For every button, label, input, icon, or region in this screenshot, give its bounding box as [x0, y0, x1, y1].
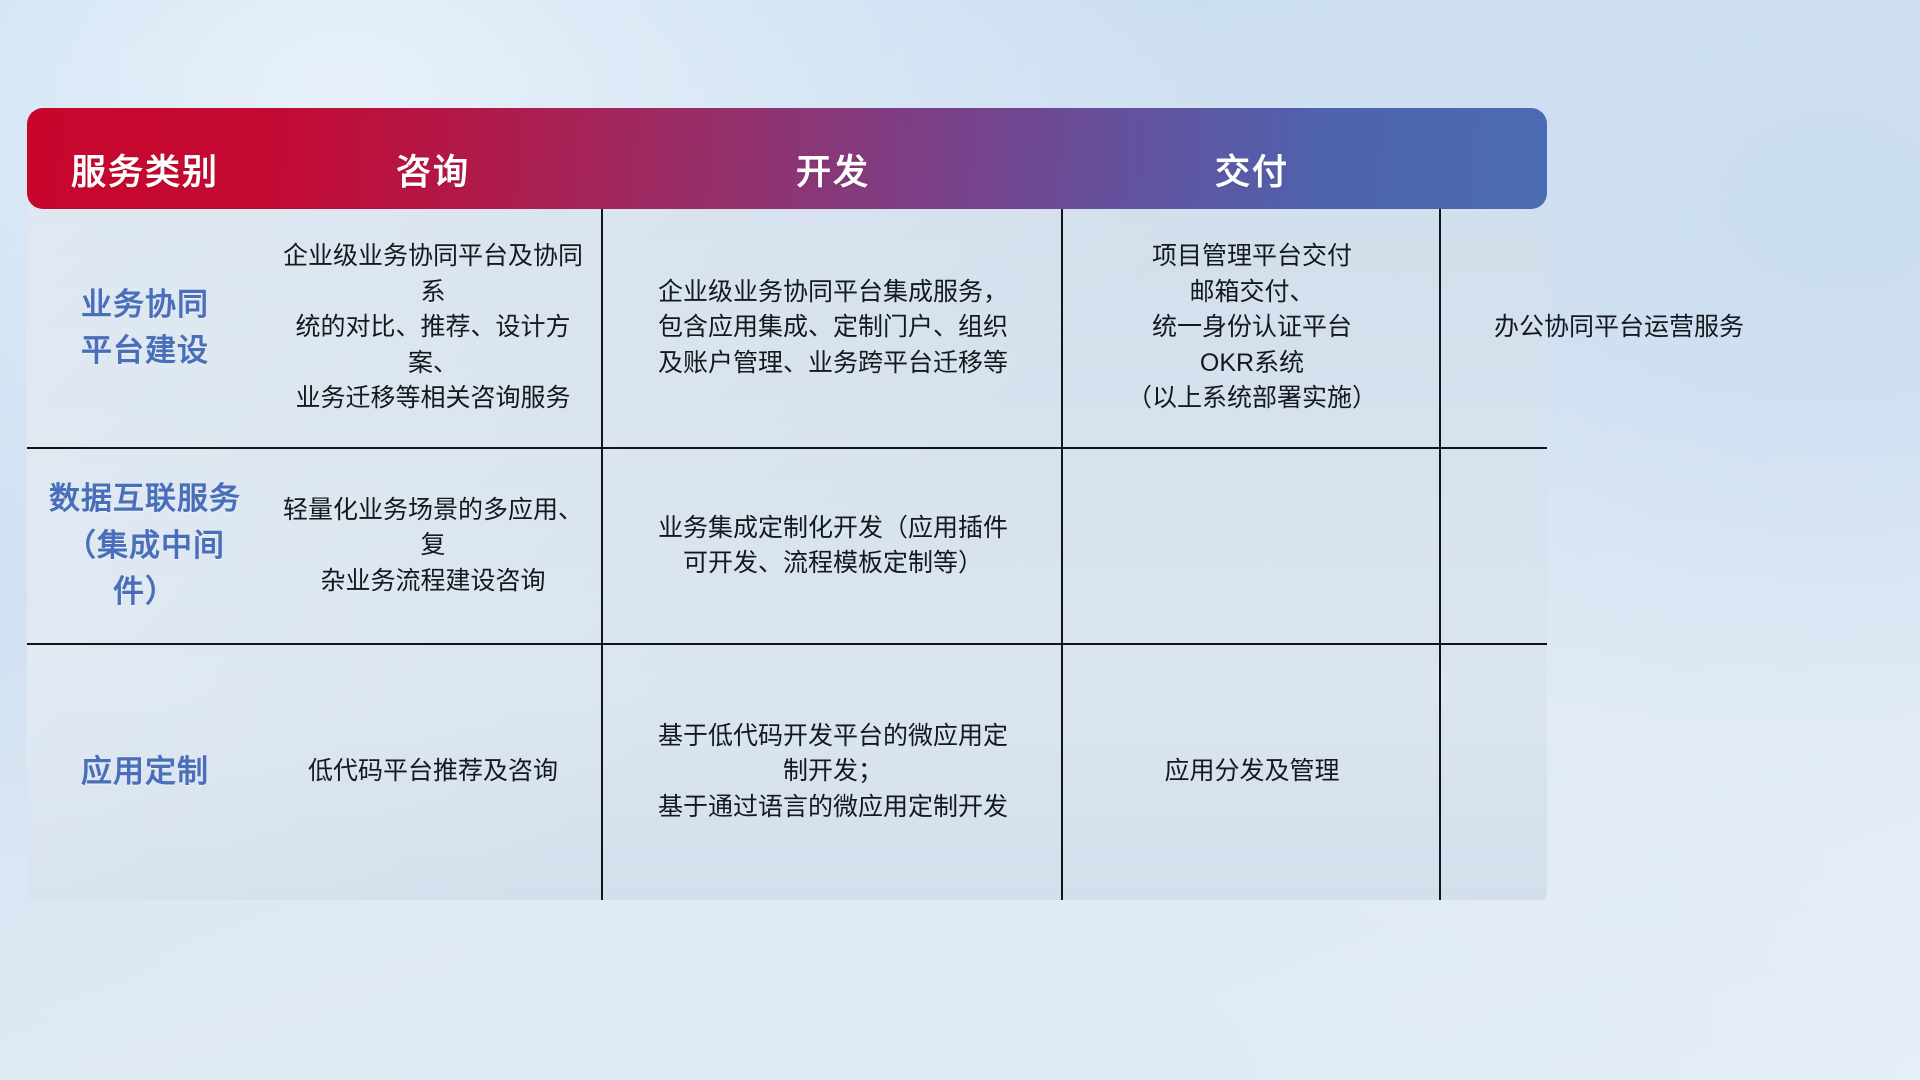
- cell-consulting-row-2: 轻量化业务场景的多应用、复 杂业务流程建设咨询: [263, 448, 603, 644]
- cell-delivery-row-1: 项目管理平台交付 邮箱交付、 统一身份认证平台 OKR系统 （以上系统部署实施）: [1063, 208, 1441, 448]
- cell-development-row-3: 基于低代码开发平台的微应用定 制开发； 基于通过语言的微应用定制开发: [603, 644, 1063, 900]
- column-header-category: 服务类别: [27, 108, 263, 209]
- column-header-operations: 运维: [1441, 108, 1547, 209]
- cell-consulting-row-1: 企业级业务协同平台及协同系 统的对比、推荐、设计方案、 业务迁移等相关咨询服务: [263, 208, 603, 448]
- table-header-row: 服务类别 咨询 开发 交付 运维: [27, 108, 1547, 209]
- cell-development-row-2: 业务集成定制化开发（应用插件 可开发、流程模板定制等）: [603, 448, 1063, 644]
- column-header-consulting: 咨询: [263, 108, 603, 209]
- cell-operations-row-2: [1441, 448, 1797, 644]
- column-header-development: 开发: [603, 108, 1063, 209]
- table-row: 业务协同 平台建设 企业级业务协同平台及协同系 统的对比、推荐、设计方案、 业务…: [27, 208, 1547, 448]
- table-body: 业务协同 平台建设 企业级业务协同平台及协同系 统的对比、推荐、设计方案、 业务…: [27, 208, 1547, 900]
- cell-operations-row-3: [1441, 644, 1797, 900]
- table-row: 数据互联服务 （集成中间件） 轻量化业务场景的多应用、复 杂业务流程建设咨询 业…: [27, 448, 1547, 644]
- column-header-delivery: 交付: [1063, 108, 1441, 209]
- cell-development-row-1: 企业级业务协同平台集成服务， 包含应用集成、定制门户、组织 及账户管理、业务跨平…: [603, 208, 1063, 448]
- cell-operations-row-1: 办公协同平台运营服务: [1441, 208, 1797, 448]
- service-matrix-table: 服务类别 咨询 开发 交付 运维 业务协同 平台建设 企业级业务协同平台及协同系…: [27, 108, 1547, 944]
- table-row: 应用定制 低代码平台推荐及咨询 基于低代码开发平台的微应用定 制开发； 基于通过…: [27, 644, 1547, 900]
- row-label-data-interconnect: 数据互联服务 （集成中间件）: [27, 448, 263, 644]
- row-label-app-customization: 应用定制: [27, 644, 263, 900]
- cell-delivery-row-2: [1063, 448, 1441, 644]
- cell-consulting-row-3: 低代码平台推荐及咨询: [263, 644, 603, 900]
- row-label-business-collaboration: 业务协同 平台建设: [27, 208, 263, 448]
- cell-delivery-row-3: 应用分发及管理: [1063, 644, 1441, 900]
